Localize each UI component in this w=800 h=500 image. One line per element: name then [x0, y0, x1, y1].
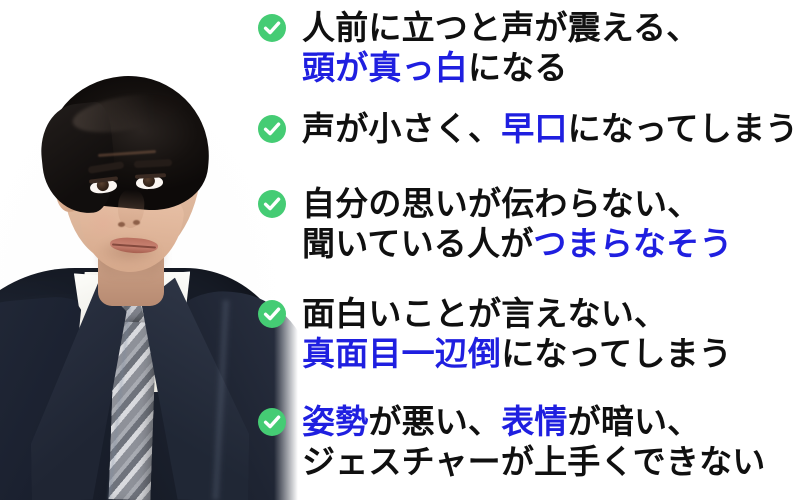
list-item-line: 面白いことが言えない、 — [302, 294, 732, 334]
nostril-right — [133, 220, 140, 225]
check-circle-icon — [258, 14, 286, 42]
list-item-line: 真面目一辺倒になってしまう — [302, 334, 732, 374]
list-item-text: 自分の思いが伝わらない、聞いている人がつまらなそう — [302, 184, 733, 264]
list-item-line: 聞いている人がつまらなそう — [302, 224, 733, 264]
list-item: 人前に立つと声が震える、頭が真っ白になる — [258, 8, 699, 88]
check-circle-icon — [258, 300, 286, 328]
plain-text: が暗い、 — [568, 403, 701, 440]
list-item: 自分の思いが伝わらない、聞いている人がつまらなそう — [258, 184, 733, 264]
businessman-photo — [0, 0, 300, 500]
list-item-text: 姿勢が悪い、表情が暗い、ジェスチャーが上手くできない — [302, 402, 765, 482]
list-item-line: 自分の思いが伝わらない、 — [302, 184, 733, 224]
plain-text: ジェスチャーが上手くできない — [302, 443, 765, 480]
highlighted-text: 早口 — [501, 110, 567, 147]
plain-text: になる — [468, 49, 568, 86]
check-circle-icon — [258, 190, 286, 218]
highlighted-text: 姿勢 — [302, 403, 368, 440]
highlighted-text: 表情 — [501, 403, 567, 440]
list-item-text: 人前に立つと声が震える、頭が真っ白になる — [302, 8, 699, 88]
plain-text: になってしまう — [501, 335, 732, 372]
list-item: 面白いことが言えない、真面目一辺倒になってしまう — [258, 294, 732, 374]
pain-point-checklist: 人前に立つと声が震える、頭が真っ白になる 声が小さく、早口になってしまう 自分の… — [258, 0, 800, 500]
list-item-line: 人前に立つと声が震える、 — [302, 8, 699, 48]
highlighted-text: 真面目一辺倒 — [302, 335, 501, 372]
list-item-line: 声が小さく、早口になってしまう — [302, 109, 798, 149]
plain-text: になってしまう — [568, 110, 799, 147]
list-item-text: 声が小さく、早口になってしまう — [302, 109, 798, 149]
list-item: 姿勢が悪い、表情が暗い、ジェスチャーが上手くできない — [258, 402, 765, 482]
plain-text: 自分の思いが伝わらない、 — [302, 185, 700, 222]
plain-text: 面白いことが言えない、 — [302, 295, 667, 332]
plain-text: が悪い、 — [368, 403, 501, 440]
highlighted-text: つまらなそう — [533, 225, 732, 262]
slide-root: 人前に立つと声が震える、頭が真っ白になる 声が小さく、早口になってしまう 自分の… — [0, 0, 800, 500]
list-item-text: 面白いことが言えない、真面目一辺倒になってしまう — [302, 294, 732, 374]
plain-text: 聞いている人が — [302, 225, 533, 262]
highlighted-text: 頭が真っ白 — [302, 49, 468, 86]
list-item-line: 姿勢が悪い、表情が暗い、 — [302, 402, 765, 442]
list-item-line: ジェスチャーが上手くできない — [302, 442, 765, 482]
plain-text: 声が小さく、 — [302, 110, 501, 147]
list-item: 声が小さく、早口になってしまう — [258, 109, 798, 149]
plain-text: 人前に立つと声が震える、 — [302, 9, 699, 46]
check-circle-icon — [258, 408, 286, 436]
check-circle-icon — [258, 115, 286, 143]
list-item-line: 頭が真っ白になる — [302, 48, 699, 88]
nostril-left — [118, 222, 125, 227]
